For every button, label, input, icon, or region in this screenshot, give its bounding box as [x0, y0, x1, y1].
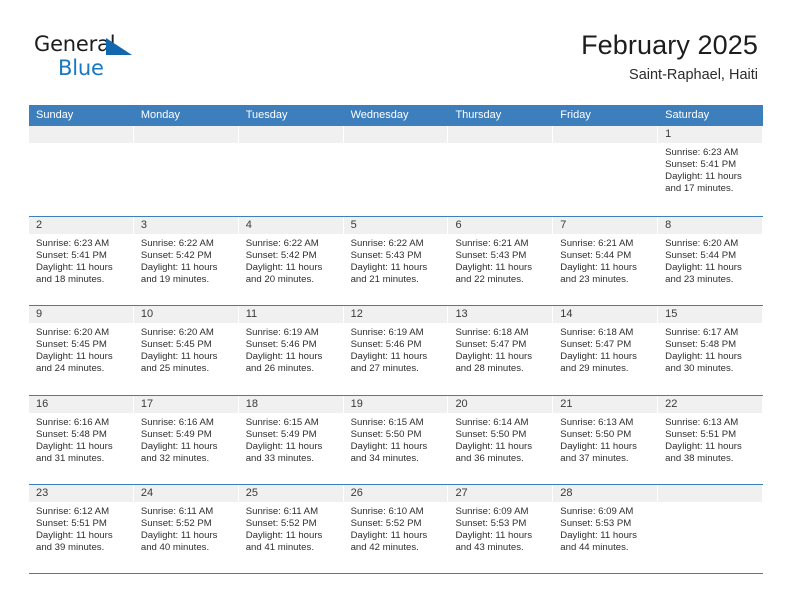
- day-detail-line: and 24 minutes.: [36, 363, 129, 375]
- day-detail-line: Daylight: 11 hours: [141, 530, 234, 542]
- day-detail-line: Daylight: 11 hours: [36, 351, 129, 363]
- calendar-day-cell[interactable]: 22Sunrise: 6:13 AMSunset: 5:51 PMDayligh…: [658, 396, 763, 485]
- day-detail-line: Sunset: 5:44 PM: [665, 250, 758, 262]
- weekday-header-wednesday: Wednesday: [344, 105, 449, 126]
- day-detail-line: Daylight: 11 hours: [36, 530, 129, 542]
- calendar-day-cell[interactable]: 3Sunrise: 6:22 AMSunset: 5:42 PMDaylight…: [134, 217, 239, 306]
- day-number: 22: [658, 396, 762, 413]
- day-detail-line: Sunrise: 6:20 AM: [141, 327, 234, 339]
- day-detail-line: Daylight: 11 hours: [665, 351, 758, 363]
- day-detail-line: Daylight: 11 hours: [36, 441, 129, 453]
- day-number-band: [658, 485, 763, 502]
- day-detail-line: Sunset: 5:52 PM: [351, 518, 444, 530]
- day-detail-line: Sunset: 5:47 PM: [560, 339, 653, 351]
- day-number: 18: [239, 396, 343, 413]
- day-number-band: 1: [658, 126, 763, 143]
- day-details: [134, 143, 239, 147]
- day-detail-line: and 37 minutes.: [560, 453, 653, 465]
- day-number: 28: [553, 485, 657, 502]
- general-blue-logo[interactable]: General Blue: [34, 30, 144, 86]
- day-detail-line: Daylight: 11 hours: [455, 530, 548, 542]
- day-detail-line: Sunrise: 6:11 AM: [246, 506, 339, 518]
- day-details: Sunrise: 6:19 AMSunset: 5:46 PMDaylight:…: [239, 323, 344, 375]
- day-number-band: [553, 126, 658, 143]
- day-number: 19: [344, 396, 448, 413]
- day-number-band: 8: [658, 217, 763, 234]
- day-number: 1: [658, 126, 762, 143]
- day-number: 14: [553, 306, 657, 323]
- calendar-day-cell[interactable]: 21Sunrise: 6:13 AMSunset: 5:50 PMDayligh…: [553, 396, 658, 485]
- day-detail-line: Daylight: 11 hours: [246, 441, 339, 453]
- day-number: 27: [448, 485, 552, 502]
- day-detail-line: and 20 minutes.: [246, 274, 339, 286]
- day-detail-line: Sunrise: 6:23 AM: [665, 147, 758, 159]
- day-details: Sunrise: 6:09 AMSunset: 5:53 PMDaylight:…: [448, 502, 553, 554]
- day-number: 15: [658, 306, 762, 323]
- logo-triangle-icon: [106, 38, 132, 55]
- day-number-band: [29, 126, 134, 143]
- day-detail-line: Sunrise: 6:16 AM: [141, 417, 234, 429]
- day-detail-line: and 27 minutes.: [351, 363, 444, 375]
- day-details: Sunrise: 6:11 AMSunset: 5:52 PMDaylight:…: [239, 502, 344, 554]
- calendar-day-cell[interactable]: 24Sunrise: 6:11 AMSunset: 5:52 PMDayligh…: [134, 485, 239, 573]
- day-number: 16: [29, 396, 133, 413]
- day-number: 5: [344, 217, 448, 234]
- day-detail-line: Daylight: 11 hours: [141, 351, 234, 363]
- day-detail-line: Daylight: 11 hours: [351, 441, 444, 453]
- day-details: Sunrise: 6:13 AMSunset: 5:51 PMDaylight:…: [658, 413, 763, 465]
- day-detail-line: Sunset: 5:50 PM: [560, 429, 653, 441]
- day-detail-line: Sunrise: 6:20 AM: [36, 327, 129, 339]
- day-details: Sunrise: 6:12 AMSunset: 5:51 PMDaylight:…: [29, 502, 134, 554]
- calendar-day-cell[interactable]: 7Sunrise: 6:21 AMSunset: 5:44 PMDaylight…: [553, 217, 658, 306]
- day-detail-line: Daylight: 11 hours: [560, 530, 653, 542]
- day-details: [553, 143, 658, 147]
- day-detail-line: and 23 minutes.: [665, 274, 758, 286]
- day-number-band: 28: [553, 485, 658, 502]
- logo-text-general: General: [34, 32, 115, 56]
- day-detail-line: and 25 minutes.: [141, 363, 234, 375]
- day-details: Sunrise: 6:21 AMSunset: 5:44 PMDaylight:…: [553, 234, 658, 286]
- day-details: Sunrise: 6:23 AMSunset: 5:41 PMDaylight:…: [29, 234, 134, 286]
- day-details: Sunrise: 6:22 AMSunset: 5:42 PMDaylight:…: [239, 234, 344, 286]
- day-number-band: 20: [448, 396, 553, 413]
- day-number: 24: [134, 485, 238, 502]
- calendar-day-cell[interactable]: 5Sunrise: 6:22 AMSunset: 5:43 PMDaylight…: [344, 217, 449, 306]
- day-detail-line: Daylight: 11 hours: [665, 262, 758, 274]
- day-detail-line: Sunset: 5:51 PM: [36, 518, 129, 530]
- day-detail-line: Sunset: 5:42 PM: [246, 250, 339, 262]
- day-detail-line: Sunrise: 6:21 AM: [455, 238, 548, 250]
- day-details: Sunrise: 6:20 AMSunset: 5:45 PMDaylight:…: [134, 323, 239, 375]
- weekday-header-row: SundayMondayTuesdayWednesdayThursdayFrid…: [29, 105, 763, 126]
- day-number-band: 23: [29, 485, 134, 502]
- day-number: 17: [134, 396, 238, 413]
- day-number-band: 4: [239, 217, 344, 234]
- day-detail-line: and 22 minutes.: [455, 274, 548, 286]
- day-number-band: [134, 126, 239, 143]
- day-number-band: 14: [553, 306, 658, 323]
- day-number-band: 16: [29, 396, 134, 413]
- day-detail-line: and 36 minutes.: [455, 453, 548, 465]
- day-number: 23: [29, 485, 133, 502]
- day-detail-line: Daylight: 11 hours: [560, 351, 653, 363]
- day-details: Sunrise: 6:10 AMSunset: 5:52 PMDaylight:…: [344, 502, 449, 554]
- day-detail-line: Daylight: 11 hours: [455, 441, 548, 453]
- calendar-day-cell[interactable]: 11Sunrise: 6:19 AMSunset: 5:46 PMDayligh…: [239, 306, 344, 395]
- calendar-day-empty: [658, 485, 763, 573]
- day-number: 3: [134, 217, 238, 234]
- day-details: [239, 143, 344, 147]
- day-detail-line: Daylight: 11 hours: [246, 262, 339, 274]
- day-number-band: 3: [134, 217, 239, 234]
- day-details: Sunrise: 6:09 AMSunset: 5:53 PMDaylight:…: [553, 502, 658, 554]
- calendar-week-row: 1Sunrise: 6:23 AMSunset: 5:41 PMDaylight…: [29, 126, 763, 216]
- day-detail-line: Sunset: 5:41 PM: [36, 250, 129, 262]
- day-detail-line: Sunrise: 6:22 AM: [351, 238, 444, 250]
- day-detail-line: and 32 minutes.: [141, 453, 234, 465]
- calendar-day-cell[interactable]: 4Sunrise: 6:22 AMSunset: 5:42 PMDaylight…: [239, 217, 344, 306]
- day-details: [29, 143, 134, 147]
- day-detail-line: Sunset: 5:50 PM: [351, 429, 444, 441]
- calendar-day-cell[interactable]: 1Sunrise: 6:23 AMSunset: 5:41 PMDaylight…: [658, 126, 763, 216]
- day-detail-line: Daylight: 11 hours: [246, 530, 339, 542]
- day-details: Sunrise: 6:11 AMSunset: 5:52 PMDaylight:…: [134, 502, 239, 554]
- day-detail-line: and 40 minutes.: [141, 542, 234, 554]
- day-detail-line: and 44 minutes.: [560, 542, 653, 554]
- day-details: Sunrise: 6:15 AMSunset: 5:49 PMDaylight:…: [239, 413, 344, 465]
- day-number-band: 7: [553, 217, 658, 234]
- day-detail-line: and 23 minutes.: [560, 274, 653, 286]
- day-number-band: 19: [344, 396, 449, 413]
- weekday-header-sunday: Sunday: [29, 105, 134, 126]
- calendar-day-empty: [29, 126, 134, 216]
- day-detail-line: Sunrise: 6:19 AM: [246, 327, 339, 339]
- calendar-day-cell[interactable]: 15Sunrise: 6:17 AMSunset: 5:48 PMDayligh…: [658, 306, 763, 395]
- day-details: Sunrise: 6:16 AMSunset: 5:48 PMDaylight:…: [29, 413, 134, 465]
- day-details: Sunrise: 6:21 AMSunset: 5:43 PMDaylight:…: [448, 234, 553, 286]
- day-detail-line: Sunset: 5:53 PM: [560, 518, 653, 530]
- day-details: Sunrise: 6:15 AMSunset: 5:50 PMDaylight:…: [344, 413, 449, 465]
- day-detail-line: Daylight: 11 hours: [560, 262, 653, 274]
- day-detail-line: Sunrise: 6:14 AM: [455, 417, 548, 429]
- day-details: Sunrise: 6:13 AMSunset: 5:50 PMDaylight:…: [553, 413, 658, 465]
- day-detail-line: Sunrise: 6:20 AM: [665, 238, 758, 250]
- day-number-band: 13: [448, 306, 553, 323]
- day-number-band: 11: [239, 306, 344, 323]
- day-detail-line: Sunset: 5:43 PM: [455, 250, 548, 262]
- day-details: Sunrise: 6:19 AMSunset: 5:46 PMDaylight:…: [344, 323, 449, 375]
- day-details: Sunrise: 6:16 AMSunset: 5:49 PMDaylight:…: [134, 413, 239, 465]
- weekday-header-friday: Friday: [553, 105, 658, 126]
- day-detail-line: Sunset: 5:50 PM: [455, 429, 548, 441]
- day-number: 13: [448, 306, 552, 323]
- day-number-band: [344, 126, 449, 143]
- day-number: 21: [553, 396, 657, 413]
- day-detail-line: Daylight: 11 hours: [36, 262, 129, 274]
- day-detail-line: Daylight: 11 hours: [141, 441, 234, 453]
- day-detail-line: Sunset: 5:44 PM: [560, 250, 653, 262]
- day-detail-line: Daylight: 11 hours: [351, 262, 444, 274]
- day-detail-line: Sunrise: 6:09 AM: [560, 506, 653, 518]
- calendar-day-cell[interactable]: 10Sunrise: 6:20 AMSunset: 5:45 PMDayligh…: [134, 306, 239, 395]
- calendar-day-cell[interactable]: 20Sunrise: 6:14 AMSunset: 5:50 PMDayligh…: [448, 396, 553, 485]
- calendar-day-cell[interactable]: 13Sunrise: 6:18 AMSunset: 5:47 PMDayligh…: [448, 306, 553, 395]
- day-detail-line: Sunrise: 6:18 AM: [560, 327, 653, 339]
- day-number-band: 26: [344, 485, 449, 502]
- day-detail-line: Sunrise: 6:22 AM: [141, 238, 234, 250]
- day-detail-line: Daylight: 11 hours: [455, 351, 548, 363]
- day-number: 12: [344, 306, 448, 323]
- day-details: Sunrise: 6:14 AMSunset: 5:50 PMDaylight:…: [448, 413, 553, 465]
- day-detail-line: and 29 minutes.: [560, 363, 653, 375]
- day-details: Sunrise: 6:22 AMSunset: 5:43 PMDaylight:…: [344, 234, 449, 286]
- day-number-band: 18: [239, 396, 344, 413]
- day-detail-line: Daylight: 11 hours: [665, 171, 758, 183]
- day-number-band: 21: [553, 396, 658, 413]
- weekday-header-thursday: Thursday: [448, 105, 553, 126]
- day-detail-line: Daylight: 11 hours: [351, 530, 444, 542]
- day-detail-line: and 38 minutes.: [665, 453, 758, 465]
- day-detail-line: Sunset: 5:43 PM: [351, 250, 444, 262]
- day-detail-line: Sunset: 5:48 PM: [36, 429, 129, 441]
- day-detail-line: and 39 minutes.: [36, 542, 129, 554]
- day-number-band: 27: [448, 485, 553, 502]
- day-number-band: 24: [134, 485, 239, 502]
- day-detail-line: Sunrise: 6:17 AM: [665, 327, 758, 339]
- day-number: 11: [239, 306, 343, 323]
- day-number: 6: [448, 217, 552, 234]
- day-detail-line: and 28 minutes.: [455, 363, 548, 375]
- day-detail-line: Sunset: 5:41 PM: [665, 159, 758, 171]
- weekday-header-tuesday: Tuesday: [239, 105, 344, 126]
- day-detail-line: and 33 minutes.: [246, 453, 339, 465]
- day-details: Sunrise: 6:18 AMSunset: 5:47 PMDaylight:…: [553, 323, 658, 375]
- day-detail-line: and 31 minutes.: [36, 453, 129, 465]
- calendar-day-empty: [344, 126, 449, 216]
- day-number-band: 6: [448, 217, 553, 234]
- day-detail-line: Sunrise: 6:09 AM: [455, 506, 548, 518]
- day-details: Sunrise: 6:22 AMSunset: 5:42 PMDaylight:…: [134, 234, 239, 286]
- day-number-band: 22: [658, 396, 763, 413]
- day-detail-line: Sunset: 5:52 PM: [141, 518, 234, 530]
- calendar-day-cell[interactable]: 9Sunrise: 6:20 AMSunset: 5:45 PMDaylight…: [29, 306, 134, 395]
- calendar-day-cell[interactable]: 12Sunrise: 6:19 AMSunset: 5:46 PMDayligh…: [344, 306, 449, 395]
- day-details: [658, 502, 763, 506]
- day-detail-line: Sunrise: 6:23 AM: [36, 238, 129, 250]
- calendar-day-cell[interactable]: 18Sunrise: 6:15 AMSunset: 5:49 PMDayligh…: [239, 396, 344, 485]
- calendar-day-empty: [553, 126, 658, 216]
- day-detail-line: and 30 minutes.: [665, 363, 758, 375]
- calendar-day-cell[interactable]: 23Sunrise: 6:12 AMSunset: 5:51 PMDayligh…: [29, 485, 134, 573]
- day-number: 9: [29, 306, 133, 323]
- day-number: 26: [344, 485, 448, 502]
- day-detail-line: Sunset: 5:52 PM: [246, 518, 339, 530]
- day-detail-line: and 41 minutes.: [246, 542, 339, 554]
- day-number-band: 5: [344, 217, 449, 234]
- day-number: 10: [134, 306, 238, 323]
- day-details: Sunrise: 6:23 AMSunset: 5:41 PMDaylight:…: [658, 143, 763, 195]
- day-number: 4: [239, 217, 343, 234]
- calendar-day-empty: [239, 126, 344, 216]
- calendar-weeks: 1Sunrise: 6:23 AMSunset: 5:41 PMDaylight…: [29, 126, 763, 574]
- day-detail-line: and 18 minutes.: [36, 274, 129, 286]
- day-detail-line: Sunset: 5:51 PM: [665, 429, 758, 441]
- calendar-day-cell[interactable]: 16Sunrise: 6:16 AMSunset: 5:48 PMDayligh…: [29, 396, 134, 485]
- page-header: General Blue February 2025 Saint-Raphael…: [0, 30, 792, 100]
- day-detail-line: Sunrise: 6:19 AM: [351, 327, 444, 339]
- calendar-day-cell[interactable]: 17Sunrise: 6:16 AMSunset: 5:49 PMDayligh…: [134, 396, 239, 485]
- day-detail-line: Daylight: 11 hours: [351, 351, 444, 363]
- day-number-band: 10: [134, 306, 239, 323]
- page-title: February 2025: [581, 30, 758, 61]
- day-detail-line: Daylight: 11 hours: [141, 262, 234, 274]
- day-number-band: 17: [134, 396, 239, 413]
- calendar-week-row: 16Sunrise: 6:16 AMSunset: 5:48 PMDayligh…: [29, 395, 763, 485]
- day-number-band: 15: [658, 306, 763, 323]
- day-detail-line: Sunrise: 6:12 AM: [36, 506, 129, 518]
- calendar-day-cell[interactable]: 14Sunrise: 6:18 AMSunset: 5:47 PMDayligh…: [553, 306, 658, 395]
- calendar-day-cell[interactable]: 26Sunrise: 6:10 AMSunset: 5:52 PMDayligh…: [344, 485, 449, 573]
- day-number: 8: [658, 217, 762, 234]
- weekday-header-monday: Monday: [134, 105, 239, 126]
- day-detail-line: and 43 minutes.: [455, 542, 548, 554]
- day-detail-line: Sunrise: 6:22 AM: [246, 238, 339, 250]
- day-number-band: 9: [29, 306, 134, 323]
- day-details: Sunrise: 6:20 AMSunset: 5:44 PMDaylight:…: [658, 234, 763, 286]
- day-details: Sunrise: 6:18 AMSunset: 5:47 PMDaylight:…: [448, 323, 553, 375]
- day-number-band: [448, 126, 553, 143]
- day-detail-line: Daylight: 11 hours: [665, 441, 758, 453]
- day-details: Sunrise: 6:20 AMSunset: 5:45 PMDaylight:…: [29, 323, 134, 375]
- calendar-page: General Blue February 2025 Saint-Raphael…: [0, 0, 792, 612]
- title-block: February 2025 Saint-Raphael, Haiti: [581, 30, 758, 84]
- calendar-day-cell[interactable]: 27Sunrise: 6:09 AMSunset: 5:53 PMDayligh…: [448, 485, 553, 573]
- day-detail-line: Sunset: 5:47 PM: [455, 339, 548, 351]
- calendar-day-cell[interactable]: 25Sunrise: 6:11 AMSunset: 5:52 PMDayligh…: [239, 485, 344, 573]
- calendar-day-cell[interactable]: 6Sunrise: 6:21 AMSunset: 5:43 PMDaylight…: [448, 217, 553, 306]
- day-detail-line: Sunset: 5:49 PM: [141, 429, 234, 441]
- day-number: 25: [239, 485, 343, 502]
- day-detail-line: and 21 minutes.: [351, 274, 444, 286]
- day-detail-line: Sunrise: 6:21 AM: [560, 238, 653, 250]
- day-detail-line: Sunrise: 6:11 AM: [141, 506, 234, 518]
- day-number-band: 25: [239, 485, 344, 502]
- day-detail-line: Sunrise: 6:15 AM: [246, 417, 339, 429]
- day-detail-line: Sunset: 5:48 PM: [665, 339, 758, 351]
- day-number: 7: [553, 217, 657, 234]
- calendar-day-empty: [134, 126, 239, 216]
- day-detail-line: Sunrise: 6:16 AM: [36, 417, 129, 429]
- day-detail-line: Sunrise: 6:15 AM: [351, 417, 444, 429]
- day-detail-line: Sunset: 5:42 PM: [141, 250, 234, 262]
- day-detail-line: Sunrise: 6:18 AM: [455, 327, 548, 339]
- day-number-band: 2: [29, 217, 134, 234]
- day-detail-line: and 34 minutes.: [351, 453, 444, 465]
- weekday-header-saturday: Saturday: [658, 105, 763, 126]
- calendar-week-row: 9Sunrise: 6:20 AMSunset: 5:45 PMDaylight…: [29, 305, 763, 395]
- day-details: [448, 143, 553, 147]
- day-detail-line: Sunrise: 6:10 AM: [351, 506, 444, 518]
- calendar-day-cell[interactable]: 28Sunrise: 6:09 AMSunset: 5:53 PMDayligh…: [553, 485, 658, 573]
- day-detail-line: and 42 minutes.: [351, 542, 444, 554]
- day-detail-line: Daylight: 11 hours: [455, 262, 548, 274]
- day-detail-line: Sunrise: 6:13 AM: [560, 417, 653, 429]
- day-detail-line: Sunrise: 6:13 AM: [665, 417, 758, 429]
- day-number-band: 12: [344, 306, 449, 323]
- day-number: 20: [448, 396, 552, 413]
- calendar-grid: SundayMondayTuesdayWednesdayThursdayFrid…: [29, 105, 763, 574]
- day-number-band: [239, 126, 344, 143]
- calendar-day-cell[interactable]: 8Sunrise: 6:20 AMSunset: 5:44 PMDaylight…: [658, 217, 763, 306]
- calendar-week-row: 23Sunrise: 6:12 AMSunset: 5:51 PMDayligh…: [29, 484, 763, 574]
- calendar-day-empty: [448, 126, 553, 216]
- day-detail-line: Sunset: 5:53 PM: [455, 518, 548, 530]
- location-subtitle: Saint-Raphael, Haiti: [581, 67, 758, 84]
- day-detail-line: and 26 minutes.: [246, 363, 339, 375]
- day-detail-line: and 17 minutes.: [665, 183, 758, 195]
- calendar-week-row: 2Sunrise: 6:23 AMSunset: 5:41 PMDaylight…: [29, 216, 763, 306]
- day-detail-line: Sunset: 5:45 PM: [36, 339, 129, 351]
- day-details: Sunrise: 6:17 AMSunset: 5:48 PMDaylight:…: [658, 323, 763, 375]
- day-number: 2: [29, 217, 133, 234]
- day-detail-line: Daylight: 11 hours: [560, 441, 653, 453]
- day-detail-line: Sunset: 5:46 PM: [351, 339, 444, 351]
- day-detail-line: and 19 minutes.: [141, 274, 234, 286]
- day-detail-line: Sunset: 5:45 PM: [141, 339, 234, 351]
- calendar-day-cell[interactable]: 19Sunrise: 6:15 AMSunset: 5:50 PMDayligh…: [344, 396, 449, 485]
- day-detail-line: Sunset: 5:46 PM: [246, 339, 339, 351]
- day-details: [344, 143, 449, 147]
- day-detail-line: Sunset: 5:49 PM: [246, 429, 339, 441]
- day-detail-line: Daylight: 11 hours: [246, 351, 339, 363]
- logo-text-blue: Blue: [58, 58, 144, 79]
- calendar-day-cell[interactable]: 2Sunrise: 6:23 AMSunset: 5:41 PMDaylight…: [29, 217, 134, 306]
